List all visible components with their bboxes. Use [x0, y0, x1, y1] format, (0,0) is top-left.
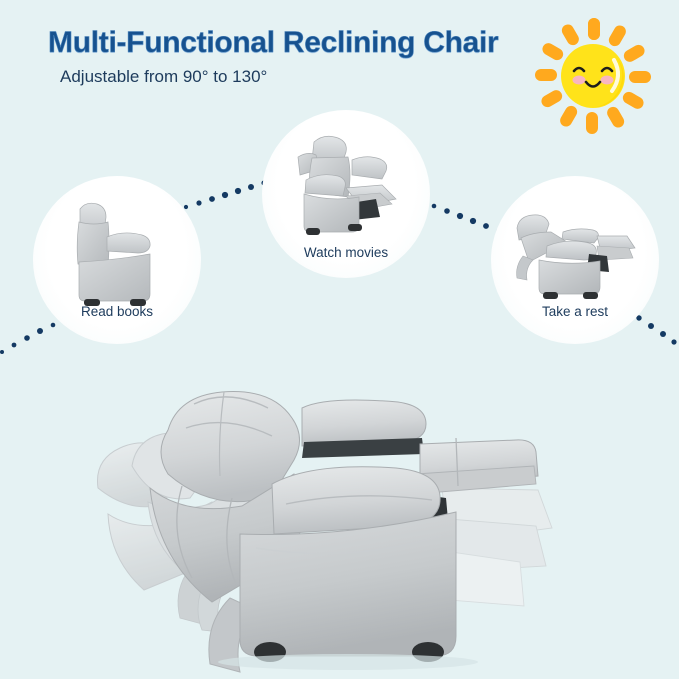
- recliner-upright-icon: [51, 192, 181, 317]
- callout-read-books[interactable]: Read books: [33, 176, 201, 344]
- callout-watch-movies[interactable]: Watch movies: [262, 110, 430, 278]
- hero-recliner-image: [90, 338, 590, 674]
- page-title: Multi-Functional Reclining Chair: [48, 26, 498, 60]
- callout-take-a-rest[interactable]: Take a rest: [491, 176, 659, 344]
- callout-label: Read books: [33, 304, 201, 319]
- recliner-partially-reclined-icon: [276, 124, 416, 254]
- sun-icon: [522, 14, 662, 139]
- page-subtitle: Adjustable from 90° to 130°: [60, 67, 267, 87]
- callout-label: Take a rest: [491, 304, 659, 319]
- callout-label: Watch movies: [262, 245, 430, 260]
- infographic-canvas: Multi-Functional Reclining Chair Adjusta…: [0, 0, 679, 679]
- recliner-fully-reclined-icon: [501, 194, 646, 314]
